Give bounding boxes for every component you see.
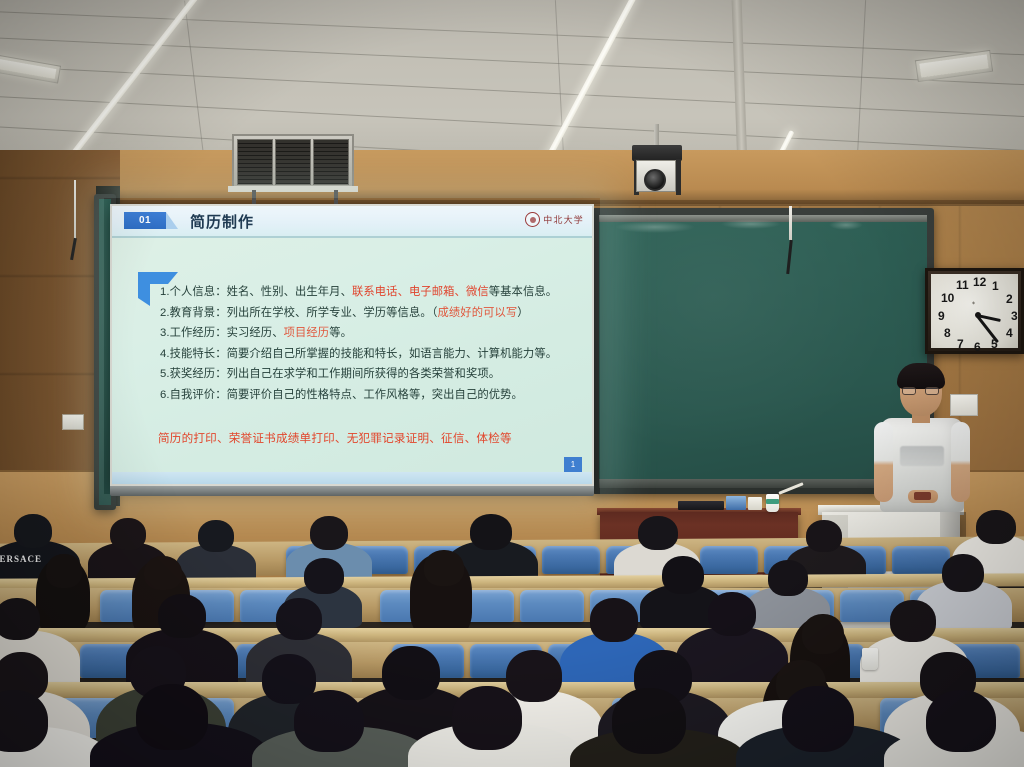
university-logo: 中北大学 xyxy=(525,212,584,227)
projector-mount-rod xyxy=(654,124,659,146)
clock-numeral: 9 xyxy=(938,309,945,323)
student-head xyxy=(452,686,522,750)
desk-papers xyxy=(678,501,724,510)
student-head xyxy=(294,690,364,752)
projection-screen: 01 简历制作 中北大学 1.个人信息：姓名、性别、出生年月、联系电话、电子邮箱… xyxy=(110,204,594,486)
desk-paper-stack xyxy=(748,497,762,510)
bullet-text-plain: 3.工作经历：实习经历、 xyxy=(160,327,284,339)
student-head xyxy=(46,554,82,588)
student-head xyxy=(198,520,234,552)
student-head xyxy=(470,514,512,550)
student-head xyxy=(662,556,704,594)
ceiling-light-panel xyxy=(915,50,993,82)
projector-mount-arm xyxy=(676,159,681,195)
university-seal-icon xyxy=(525,212,540,227)
bullet-line: 5.获奖经历：列出自己在求学和工作期间所获得的各类荣誉和奖项。 xyxy=(160,364,580,385)
clock-numeral: 2 xyxy=(1006,292,1013,306)
clock-face: 12 1 2 3 4 5 6 7 8 9 10 11 ◈ xyxy=(931,274,1018,348)
audience-seating: VERSACE xyxy=(0,540,1024,767)
slide-header-band xyxy=(112,206,592,236)
slide-header-rule xyxy=(112,236,592,238)
student-head xyxy=(768,560,808,596)
bullet-line: 3.工作经历：实习经历、项目经历等。 xyxy=(160,323,580,344)
clock-numeral: 10 xyxy=(941,291,954,305)
student-head xyxy=(304,558,344,594)
upper-wall-strip xyxy=(0,150,1024,206)
seat xyxy=(520,590,584,622)
bullet-line: 1.个人信息：姓名、性别、出生年月、联系电话、电子邮箱、微信等基本信息。 xyxy=(160,282,580,303)
clock-numeral: 1 xyxy=(992,279,999,293)
projector-lens xyxy=(644,169,666,191)
student-head xyxy=(136,684,208,750)
slide-heading: 简历制作 xyxy=(190,211,254,232)
student-tshirt-text: VERSACE xyxy=(0,554,42,564)
student-head xyxy=(276,598,322,640)
student-head xyxy=(708,592,756,636)
bullet-text-plain: ） xyxy=(517,307,528,319)
student-cup xyxy=(862,648,878,670)
bullet-line: 4.技能特长：简要介绍自己所掌握的技能和特长，如语言能力、计算机能力等。 xyxy=(160,344,580,365)
ac-mount-leg xyxy=(252,190,256,204)
bullet-text-plain: 2.教育背景：列出所在学校、所学专业、学历等信息。（ xyxy=(160,307,438,319)
bullet-text-highlight: 联系电话、电子邮箱、微信 xyxy=(352,286,489,298)
student-head xyxy=(382,646,440,700)
student-head xyxy=(0,598,40,640)
slide-content: 01 简历制作 中北大学 1.个人信息：姓名、性别、出生年月、联系电话、电子邮箱… xyxy=(112,206,592,484)
ac-unit-base xyxy=(228,186,358,192)
student-head xyxy=(802,614,844,654)
clock-brand-mark: ◈ xyxy=(972,300,976,305)
projector-bracket xyxy=(632,145,682,161)
clock-numeral: 12 xyxy=(973,275,986,289)
bullet-text-highlight: 项目经历 xyxy=(284,327,330,339)
bullet-text-plain: 等基本信息。 xyxy=(489,286,557,298)
student-head xyxy=(782,686,854,752)
blackboard-hanging-cord xyxy=(789,206,792,240)
clock-numeral: 8 xyxy=(944,326,951,340)
student-head xyxy=(506,650,562,702)
student-head xyxy=(926,690,996,752)
wall-switch[interactable] xyxy=(62,414,84,430)
slide-section-number-tail xyxy=(166,212,178,229)
student-head xyxy=(890,600,936,642)
presenter-held-object xyxy=(914,492,931,500)
student-head xyxy=(158,594,206,638)
presenter-arm-right xyxy=(951,422,970,502)
student-head xyxy=(310,516,348,550)
student-head xyxy=(14,514,52,548)
bullet-line: 2.教育背景：列出所在学校、所学专业、学历等信息。（成绩好的可以写） xyxy=(160,303,580,324)
desk-book xyxy=(726,496,746,510)
slide-footer-note: 简历的打印、荣誉证书成绩单打印、无犯罪记录证明、征信、体检等 xyxy=(158,430,512,446)
clock-numeral: 7 xyxy=(957,337,964,351)
student-head xyxy=(424,550,464,586)
seat xyxy=(700,546,758,574)
university-name: 中北大学 xyxy=(543,213,584,226)
clock-numeral: 3 xyxy=(1011,309,1018,323)
presenter-shirt-print xyxy=(900,446,944,466)
student-head xyxy=(110,518,146,550)
student-head xyxy=(590,598,638,642)
student-head xyxy=(144,556,182,590)
slide-bullet-list: 1.个人信息：姓名、性别、出生年月、联系电话、电子邮箱、微信等基本信息。 2.教… xyxy=(160,282,580,405)
student-head xyxy=(612,688,686,754)
bullet-line: 6.自我评价：简要评价自己的性格特点、工作风格等，突出自己的优势。 xyxy=(160,385,580,406)
bullet-text-plain: 1.个人信息：姓名、性别、出生年月、 xyxy=(160,286,352,298)
ceiling-light-panel xyxy=(0,54,61,83)
bullet-text-highlight: 成绩好的可以写 xyxy=(438,307,518,319)
presenter-glasses xyxy=(902,387,940,395)
desk-cup-band xyxy=(766,499,779,504)
clock-numeral: 4 xyxy=(1006,326,1013,340)
student-head xyxy=(942,554,984,592)
ac-mount-leg xyxy=(334,190,338,204)
presenter-arm-left xyxy=(874,422,893,502)
presenter-hair xyxy=(897,363,945,389)
hanging-cord xyxy=(74,180,76,242)
lecture-hall-photo: 12 1 2 3 4 5 6 7 8 9 10 11 ◈ xyxy=(0,0,1024,767)
clock-center-pin xyxy=(975,312,981,318)
clock-numeral: 6 xyxy=(974,340,981,354)
seat xyxy=(542,546,600,574)
ceiling-ac-unit xyxy=(232,134,354,190)
student-head xyxy=(976,510,1016,544)
screen-bottom-rail xyxy=(110,486,594,496)
clock-numeral: 11 xyxy=(956,278,969,292)
presenter xyxy=(874,366,970,526)
slide-page-number: 1 xyxy=(564,457,582,472)
wall-clock: 12 1 2 3 4 5 6 7 8 9 10 11 ◈ xyxy=(925,268,1024,354)
student-head xyxy=(638,516,678,550)
slide-section-number: 01 xyxy=(124,212,166,229)
slide-bottom-band xyxy=(112,472,592,484)
bullet-text-plain: 等。 xyxy=(329,327,352,339)
student-head xyxy=(806,520,842,552)
